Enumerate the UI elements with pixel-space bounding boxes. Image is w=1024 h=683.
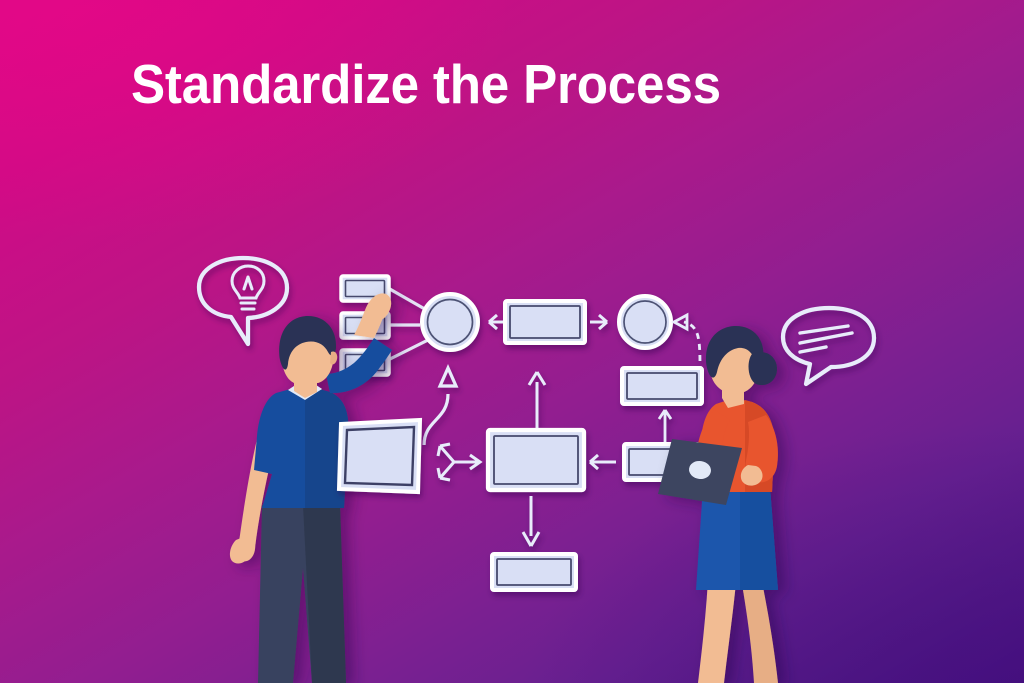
woman-hand-far [741, 465, 763, 486]
man-ear [330, 351, 337, 364]
curved-arrow-up [424, 368, 456, 445]
lightbulb-icon [232, 266, 264, 309]
arrow-to-right-circle [590, 315, 607, 329]
woman-far-leg [742, 582, 778, 683]
decision-circle-right [619, 296, 671, 348]
woman-near-leg [698, 580, 736, 683]
thought-bubble-lightbulb [199, 258, 287, 344]
process-box-right-upper [622, 368, 702, 404]
process-box-center [488, 430, 584, 490]
process-box-near-man [339, 420, 420, 492]
illustration-flowchart-scene [0, 0, 1024, 683]
arrow-left-to-circle [489, 315, 504, 329]
arrow-center-to-right [590, 455, 616, 469]
arrow-up-right-column [659, 410, 671, 442]
decision-circle-left [422, 294, 478, 350]
speech-bubble-lines [783, 308, 874, 384]
man-trouser-shade [303, 505, 346, 683]
process-box-top-center [505, 301, 585, 343]
woman-hair-bun [749, 352, 777, 385]
arrow-up-center [529, 372, 545, 428]
bubble-text-lines [800, 326, 852, 352]
poster-canvas: Standardize the Process [0, 0, 1024, 683]
arrow-down-center [523, 496, 539, 546]
fork-arrow-left [438, 444, 480, 480]
process-box-bottom-center [492, 554, 576, 590]
woman-skirt-shade [740, 487, 778, 590]
